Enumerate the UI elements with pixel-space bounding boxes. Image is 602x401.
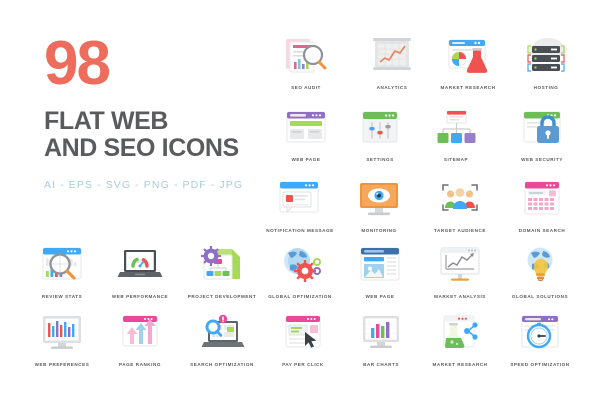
server-cloud-icon xyxy=(500,34,592,82)
icon-label: HOSTING xyxy=(500,85,592,90)
globe-gear-icon xyxy=(254,243,346,291)
icon-cell-web-performance[interactable]: WEB PERFORMANCE xyxy=(94,243,186,299)
icon-label: SEO AUDIT xyxy=(260,85,352,90)
icon-cell-global-optimization[interactable]: GLOBAL OPTIMIZATION xyxy=(254,243,346,299)
icon-label: WEB PAGE xyxy=(334,294,426,299)
icon-cell-web-page-2[interactable]: WEB PAGE xyxy=(334,243,426,299)
page-title: FLAT WEB AND SEO ICONS xyxy=(44,108,259,162)
share-flask-icon xyxy=(414,311,506,359)
padlock-browser-icon xyxy=(496,106,588,154)
icon-cell-search-optimization[interactable]: SEARCH OPTIMIZATION xyxy=(176,311,268,367)
icon-label: MARKET RESEARCH xyxy=(414,362,506,367)
laptop-search-icon xyxy=(176,311,268,359)
icon-cell-speed-optimization[interactable]: SPEED OPTIMIZATION xyxy=(494,311,586,367)
icon-label: MARKET ANALYSIS xyxy=(414,294,506,299)
icon-cell-hosting[interactable]: HOSTING xyxy=(500,34,592,90)
icon-label: SITEMAP xyxy=(410,157,502,162)
headline-line-2: AND SEO ICONS xyxy=(44,135,259,162)
icon-cell-sitemap[interactable]: SITEMAP xyxy=(410,106,502,162)
icon-cell-market-research-2[interactable]: MARKET RESEARCH xyxy=(414,311,506,367)
file-formats-list: AI - EPS - SVG - PNG - PDF - JPG xyxy=(44,179,259,191)
poster-canvas: 98 FLAT WEB AND SEO ICONS AI - EPS - SVG… xyxy=(0,0,602,401)
laptop-gauge-icon xyxy=(94,243,186,291)
icon-label: SPEED OPTIMIZATION xyxy=(494,362,586,367)
icon-label: MONITORING xyxy=(333,228,425,233)
icon-label: PAGE RANKING xyxy=(94,362,186,367)
icon-label: GLOBAL OPTIMIZATION xyxy=(254,294,346,299)
icon-cell-global-solutions[interactable]: GLOBAL SOLUTIONS xyxy=(494,243,586,299)
icon-cell-web-security[interactable]: WEB SECURITY xyxy=(496,106,588,162)
sitemap-tree-icon xyxy=(410,106,502,154)
eye-monitor-icon xyxy=(333,177,425,225)
documents-magnifier-icon xyxy=(260,34,352,82)
icon-cell-page-ranking[interactable]: PAGE RANKING xyxy=(94,311,186,367)
icon-cell-market-analysis[interactable]: MARKET ANALYSIS xyxy=(414,243,506,299)
icon-cell-monitoring[interactable]: MONITORING xyxy=(333,177,425,233)
icon-cell-target-audience[interactable]: TARGET AUDIENCE xyxy=(414,177,506,233)
icon-label: GLOBAL SOLUTIONS xyxy=(494,294,586,299)
icon-label: DOMAIN SEARCH xyxy=(496,228,588,233)
icon-label: TARGET AUDIENCE xyxy=(414,228,506,233)
arrows-up-icon xyxy=(94,311,186,359)
icon-label: SEARCH OPTIMIZATION xyxy=(176,362,268,367)
icon-cell-domain-search[interactable]: DOMAIN SEARCH xyxy=(496,177,588,233)
globe-bulb-icon xyxy=(494,243,586,291)
icon-label: WEB PERFORMANCE xyxy=(94,294,186,299)
icon-label: WEB SECURITY xyxy=(496,157,588,162)
presentation-chart-icon xyxy=(414,243,506,291)
icon-count-number: 98 xyxy=(44,34,259,94)
people-focus-icon xyxy=(414,177,506,225)
headline-line-1: FLAT WEB xyxy=(44,107,168,135)
browser-image-icon xyxy=(334,243,426,291)
title-block: 98 FLAT WEB AND SEO ICONS AI - EPS - SVG… xyxy=(44,34,259,191)
calendar-browser-icon xyxy=(496,177,588,225)
icon-cell-seo-audit[interactable]: SEO AUDIT xyxy=(260,34,352,90)
stopwatch-browser-icon xyxy=(494,311,586,359)
